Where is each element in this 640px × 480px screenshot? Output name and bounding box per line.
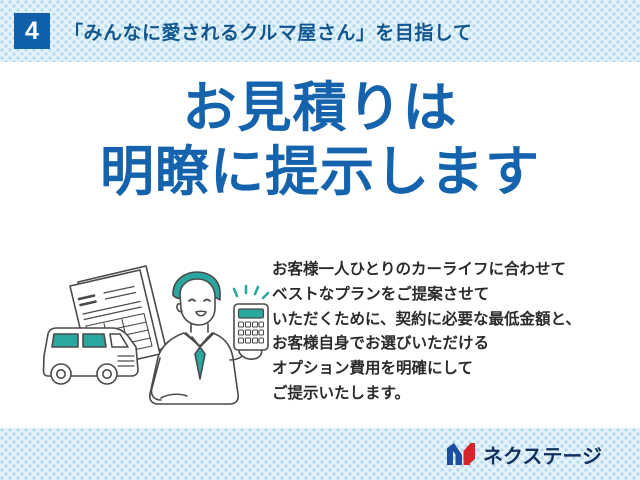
body-line: お客様自身でお選びいただける — [272, 332, 632, 357]
brand-logo: ネクステージ — [446, 440, 602, 469]
footer-band: ネクステージ — [0, 428, 640, 480]
section-number-badge: 4 — [14, 13, 50, 49]
body-line: いただくために、契約に必要な最低金額と、 — [272, 308, 632, 333]
body-copy: お客様一人ひとりのカーライフに合わせて ベストなプランをご提案させて いただくた… — [272, 258, 632, 407]
header-title: 「みんなに愛されるクルマ屋さん」を目指して — [64, 18, 472, 45]
body-line: ベストなプランをご提案させて — [272, 283, 632, 308]
headline-line-2: 明瞭に提示します — [0, 144, 640, 200]
header-band: 4 「みんなに愛されるクルマ屋さん」を目指して — [0, 0, 640, 62]
body-line: ご提示いたします。 — [272, 382, 632, 407]
body-line: お客様一人ひとりのカーライフに合わせて — [272, 258, 632, 283]
main-content: お見積りは 明瞭に提示します お客様一人ひとりのカーライフに合わせて ベストなプ… — [0, 62, 640, 428]
brand-name: ネクステージ — [483, 440, 602, 469]
sparkle-marks — [234, 286, 268, 298]
headline: お見積りは 明瞭に提示します — [0, 80, 640, 200]
illustration-salesman-quote-van — [34, 248, 274, 416]
promo-slide: 4 「みんなに愛されるクルマ屋さん」を目指して お見積りは 明瞭に提示します お… — [0, 0, 640, 480]
headline-line-1: お見積りは — [0, 80, 640, 136]
calculator — [234, 304, 268, 350]
van-illustration — [44, 328, 139, 384]
nextage-n-mark-icon — [446, 442, 476, 466]
body-line: オプション費用を明確にして — [272, 357, 632, 382]
